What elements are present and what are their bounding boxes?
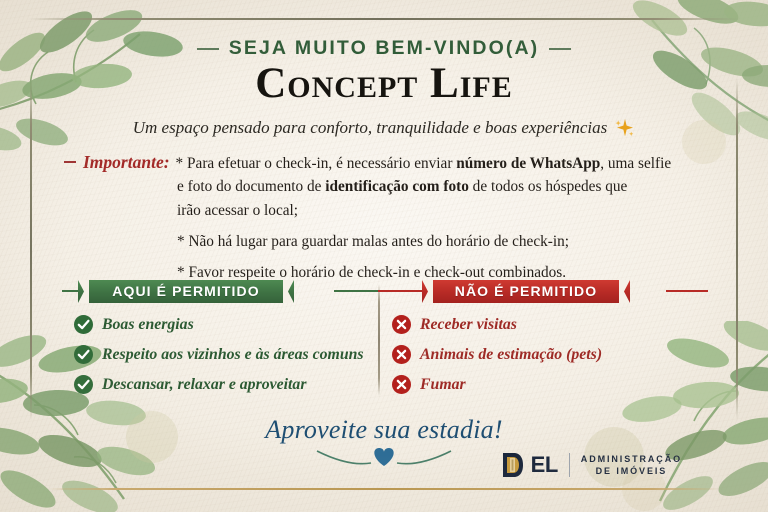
logo-tagline-line-1: ADMINISTRAÇÃO	[581, 454, 682, 464]
list-item: Respeito aos vizinhos e às áreas comuns	[74, 345, 374, 364]
allowed-list: Boas energias Respeito aos vizinhos e às…	[74, 315, 374, 394]
forbidden-banner-wrap: NÃO É PERMITIDO	[392, 278, 692, 304]
important-line-2: e foto do documento de identificação com…	[64, 175, 708, 198]
check-circle-icon	[74, 345, 93, 364]
welcome-dash-left	[197, 48, 219, 50]
welcome-row: SEJA MUITO BEM-VINDO(A)	[0, 37, 768, 60]
rules-section: AQUI É PERMITIDO Boas energias R	[0, 278, 768, 400]
important-bullets: * Não há lugar para guardar malas antes …	[64, 230, 708, 285]
list-item: Receber visitas	[392, 315, 692, 334]
poster-canvas: SEJA MUITO BEM-VINDO(A) Concept Life Um …	[0, 0, 768, 512]
allowed-column: AQUI É PERMITIDO Boas energias R	[74, 278, 374, 405]
allowed-banner: AQUI É PERMITIDO	[78, 280, 294, 303]
list-item: Boas energias	[74, 315, 374, 334]
important-line-1: * Para efetuar o check-in, é necessário …	[176, 152, 672, 175]
important-line-2-a: e foto do documento de	[177, 178, 325, 195]
logo-name: EL	[531, 454, 558, 476]
forbidden-item-label: Receber visitas	[420, 316, 517, 334]
forbidden-banner-sideline-left	[378, 290, 424, 292]
x-circle-icon	[392, 375, 411, 394]
allowed-item-label: Respeito aos vizinhos e às áreas comuns	[102, 346, 364, 364]
allowed-banner-sideline-left	[62, 290, 78, 292]
list-item: Animais de estimação (pets)	[392, 345, 692, 364]
important-line-1-c: , uma	[600, 155, 638, 172]
logo-tagline: ADMINISTRAÇÃO DE IMÓVEIS	[581, 453, 682, 477]
x-circle-icon	[392, 315, 411, 334]
logo-divider	[569, 453, 570, 477]
important-line-1-strong-whatsapp: número de WhatsApp	[456, 155, 600, 172]
heart-icon	[309, 443, 459, 469]
allowed-banner-wrap: AQUI É PERMITIDO	[74, 278, 374, 304]
logo-tagline-line-2: DE IMÓVEIS	[596, 466, 668, 476]
list-item: Fumar	[392, 375, 692, 394]
forbidden-item-label: Fumar	[420, 376, 466, 394]
important-line-1-a: * Para efetuar o check-in, é necessário …	[176, 155, 457, 172]
important-bullet-2: * Não há lugar para guardar malas antes …	[177, 230, 708, 253]
important-dash	[64, 161, 76, 163]
forbidden-list: Receber visitas Animais de estimação (pe…	[392, 315, 692, 394]
subtitle-row: Um espaço pensado para conforto, tranqui…	[0, 117, 768, 139]
page-title: Concept Life	[0, 62, 768, 105]
important-line-2-c: de todos os hóspedes que	[469, 178, 627, 195]
important-line-2-strong-documento: identificação com foto	[325, 178, 469, 195]
banner-notch-left-icon	[78, 280, 89, 303]
allowed-banner-label: AQUI É PERMITIDO	[112, 283, 260, 299]
important-label: Importante:	[83, 152, 170, 173]
welcome-dash-right	[549, 48, 571, 50]
check-circle-icon	[74, 375, 93, 394]
forbidden-banner-sideline-right	[666, 290, 708, 292]
banner-notch-left-icon	[422, 280, 433, 303]
forbidden-banner-label: NÃO É PERMITIDO	[455, 283, 598, 299]
banner-notch-right-icon	[283, 280, 294, 303]
list-item: Descansar, relaxar e aproveitar	[74, 375, 374, 394]
sparkles-icon	[613, 117, 635, 139]
closing-text: Aproveite sua estadia!	[0, 415, 768, 445]
allowed-item-label: Descansar, relaxar e aproveitar	[102, 376, 306, 394]
banner-notch-right-icon	[619, 280, 630, 303]
welcome-text: SEJA MUITO BEM-VINDO(A)	[229, 37, 539, 60]
x-circle-icon	[392, 345, 411, 364]
important-line-1-selfie: selfie	[638, 155, 671, 172]
important-block: Importante: * Para efetuar o check-in, é…	[64, 152, 708, 284]
forbidden-item-label: Animais de estimação (pets)	[420, 346, 602, 364]
forbidden-column: NÃO É PERMITIDO Receber visitas	[392, 278, 692, 405]
important-line-3: irão acessar o local;	[64, 199, 708, 222]
company-logo: EL ADMINISTRAÇÃO DE IMÓVEIS	[502, 452, 682, 478]
rules-divider	[378, 284, 380, 396]
forbidden-banner: NÃO É PERMITIDO	[422, 280, 630, 303]
allowed-item-label: Boas energias	[102, 316, 194, 334]
check-circle-icon	[74, 315, 93, 334]
del-monogram-icon	[502, 452, 524, 478]
subtitle-text: Um espaço pensado para conforto, tranqui…	[133, 118, 608, 138]
